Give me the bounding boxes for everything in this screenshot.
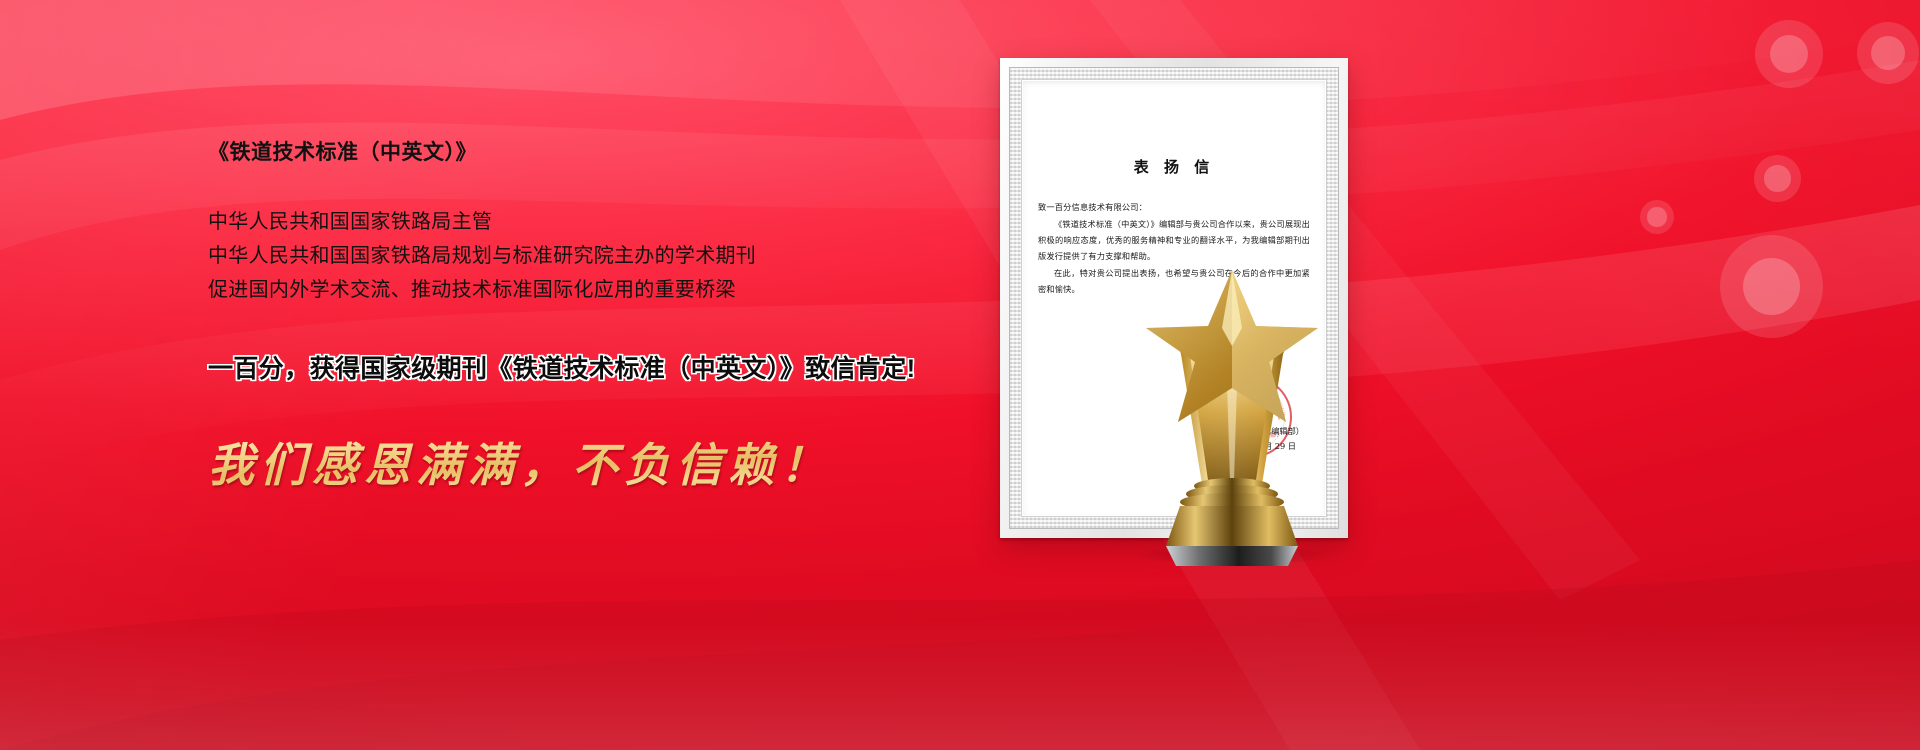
star-trophy (1122, 248, 1342, 568)
info-line: 中华人民共和国国家铁路局主管 (208, 205, 968, 239)
journal-title: 《铁道技术标准（中英文）》 (208, 140, 968, 165)
award-headline: 一百分，获得国家级期刊《铁道技术标准（中英文）》致信肯定! (208, 349, 968, 385)
info-line: 促进国内外学术交流、推动技术标准国际化应用的重要桥梁 (208, 273, 968, 307)
left-text-block: 《铁道技术标准（中英文）》 中华人民共和国国家铁路局主管 中华人民共和国国家铁路… (208, 140, 968, 495)
info-line: 中华人民共和国国家铁路局规划与标准研究院主办的学术期刊 (208, 239, 968, 273)
certificate-title: 表 扬 信 (1038, 156, 1310, 177)
info-lines: 中华人民共和国国家铁路局主管 中华人民共和国国家铁路局规划与标准研究院主办的学术… (208, 205, 968, 307)
gratitude-slogan: 我们感恩满满，不负信赖！ (208, 429, 968, 495)
banner-root: 《铁道技术标准（中英文）》 中华人民共和国国家铁路局主管 中华人民共和国国家铁路… (0, 0, 1920, 750)
certificate-salutation: 致一百分信息技术有限公司： (1038, 199, 1310, 215)
